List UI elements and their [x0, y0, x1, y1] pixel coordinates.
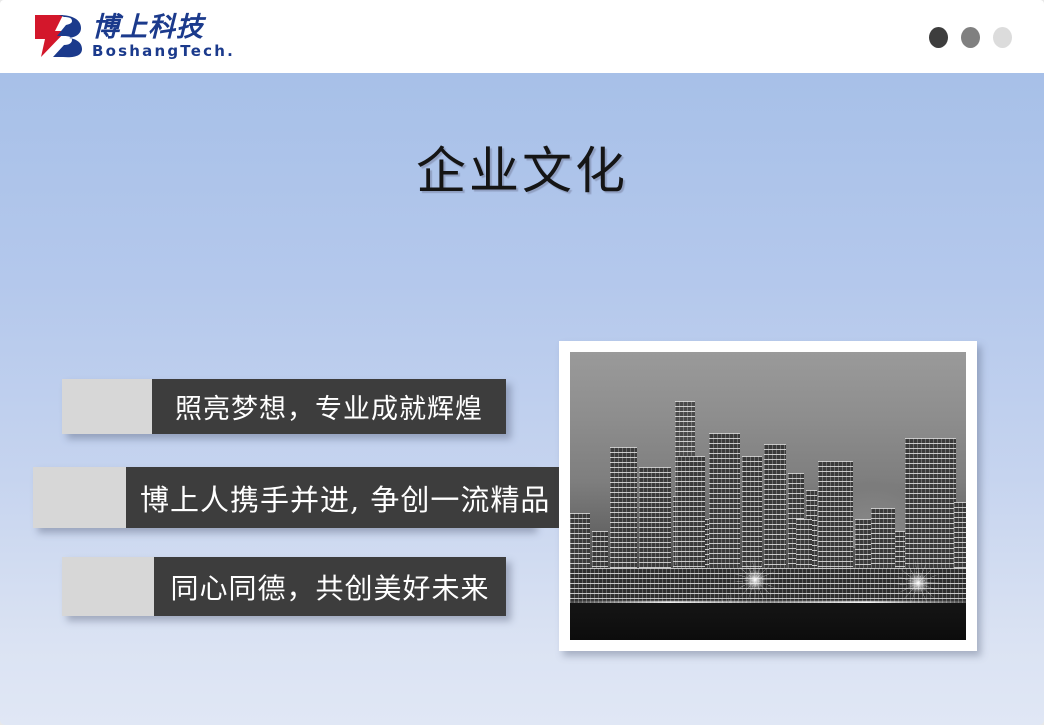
dot-medium-icon[interactable]: [961, 27, 980, 48]
dot-light-icon[interactable]: [993, 27, 1012, 48]
slogan-bar-2: 博上人携手并进, 争创一流精品: [33, 467, 532, 528]
logo-english-name: BoshangTech.: [92, 44, 235, 59]
city-skyline-photo-frame: [559, 341, 977, 651]
slide-header: 博上科技 BoshangTech.: [0, 0, 1044, 73]
page-title: 企业文化: [0, 131, 1044, 203]
slogan-text-2: 博上人携手并进, 争创一流精品: [126, 467, 564, 528]
logo-text-block: 博上科技 BoshangTech.: [92, 14, 235, 59]
city-skyline-night-photo: [570, 352, 966, 640]
slogan-chip-1: [62, 379, 152, 434]
header-dots-group: [929, 27, 1012, 48]
slogan-bar-1: 照亮梦想，专业成就辉煌: [62, 379, 506, 434]
slogan-chip-3: [62, 557, 154, 616]
logo-chinese-name: 博上科技: [92, 14, 235, 41]
light-flare-3: [907, 572, 929, 594]
company-logo[interactable]: 博上科技 BoshangTech.: [33, 12, 235, 60]
foreground-ground: [570, 603, 966, 640]
slogan-text-3: 同心同德，共创美好未来: [154, 557, 506, 616]
slogan-chip-2: [33, 467, 126, 528]
slogan-text-1: 照亮梦想，专业成就辉煌: [152, 379, 506, 434]
dot-dark-icon[interactable]: [929, 27, 948, 48]
slogan-bar-3: 同心同德，共创美好未来: [62, 557, 506, 616]
boshang-logo-mark-icon: [33, 12, 85, 60]
light-flare-1: [744, 569, 766, 591]
presentation-slide: 博上科技 BoshangTech. 企业文化 照亮梦想，专业成就辉煌 博上人携手…: [0, 0, 1044, 725]
slide-body: 企业文化 照亮梦想，专业成就辉煌 博上人携手并进, 争创一流精品 同心同德，共创…: [0, 73, 1044, 725]
